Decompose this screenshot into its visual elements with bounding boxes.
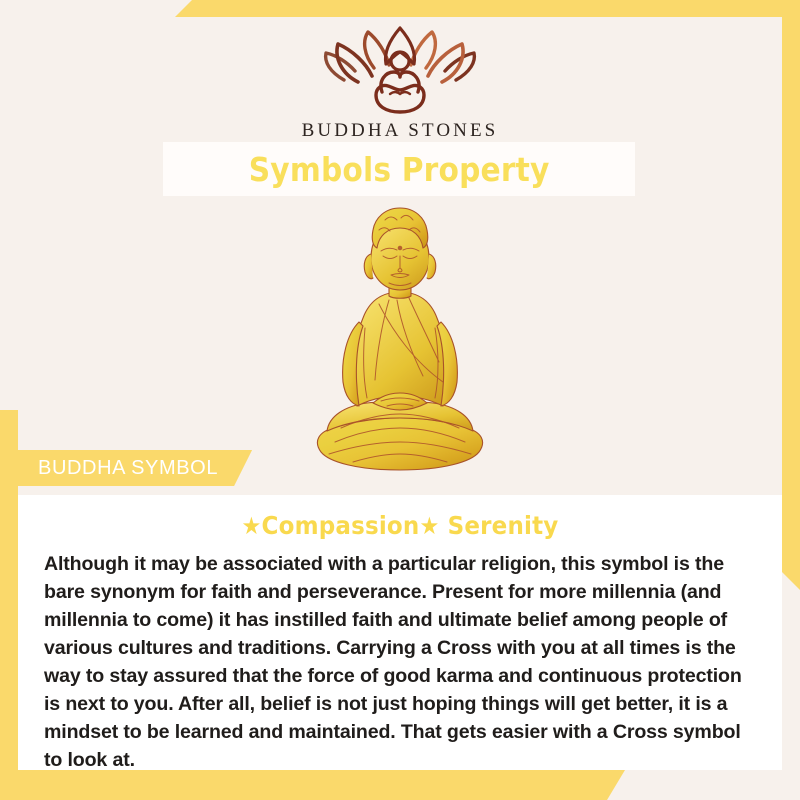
- category-tag-label: BUDDHA SYMBOL: [38, 457, 218, 480]
- star-icon-two: ★: [419, 512, 439, 540]
- content-panel: ★Compassion★ Serenity Although it may be…: [18, 495, 782, 770]
- subtitle-word-two: Serenity: [448, 511, 559, 540]
- page-title: Symbols Property: [249, 150, 550, 189]
- category-tag: BUDDHA SYMBOL: [18, 450, 252, 486]
- subtitle-word-one: Compassion: [262, 511, 420, 540]
- decor-bar-left: [0, 410, 18, 800]
- star-icon-one: ★: [242, 512, 262, 540]
- decor-bar-top: [175, 0, 800, 17]
- brand-header: BUDDHA STONES: [0, 22, 800, 142]
- brand-name: BUDDHA STONES: [302, 120, 499, 142]
- title-banner: Symbols Property: [163, 142, 635, 196]
- decor-bar-bottom: [0, 770, 625, 800]
- lotus-meditation-icon: [314, 22, 486, 114]
- body-paragraph: Although it may be associated with a par…: [30, 550, 770, 774]
- content-subtitle: ★Compassion★ Serenity: [60, 511, 741, 540]
- poster-canvas: BUDDHA STONES Symbols Property: [0, 0, 800, 800]
- seated-buddha-icon: [293, 200, 508, 490]
